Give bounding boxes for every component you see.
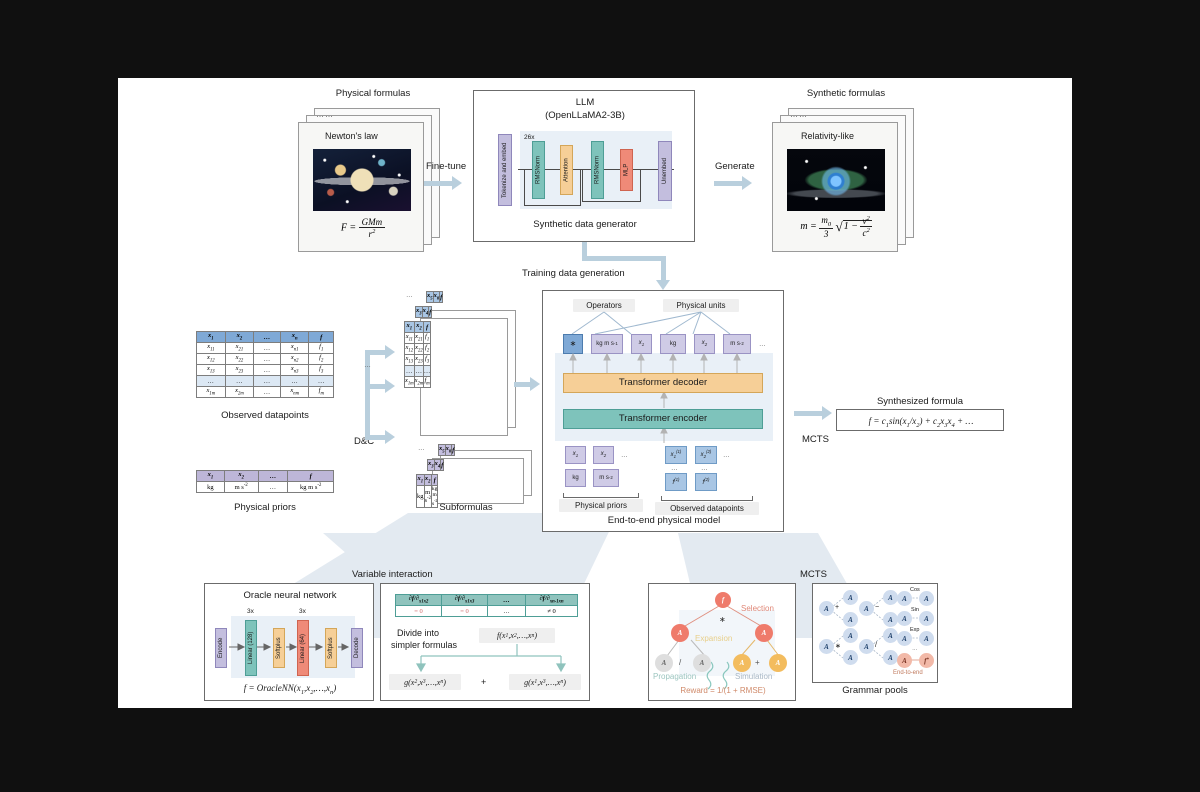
figure-canvas: Physical formulas Newton's law F = GMm r… xyxy=(118,78,1072,708)
table-row: x13x23f3 xyxy=(405,355,431,366)
input-token-f1: f(1) xyxy=(665,473,687,491)
formula-lhs: F = xyxy=(341,222,356,233)
grammar-op-plus: + xyxy=(835,604,839,611)
table-row: x1mx2mfm xyxy=(405,377,431,388)
grammar-node-b4: A xyxy=(859,639,874,654)
grammar-node-c5: A xyxy=(897,631,912,646)
mcts-leaf-3: A xyxy=(733,654,751,672)
formula-denominator: r2 xyxy=(359,228,386,239)
obs-h-2: … xyxy=(254,332,281,343)
grammar-node-b1: A xyxy=(859,601,874,616)
grammar-node-leaf: f* xyxy=(919,653,934,668)
grammar-node-c3: A xyxy=(897,611,912,626)
mcts-leaf-4: A xyxy=(769,654,787,672)
physical-priors-table: x1 x2 … f kg m s-2 … kg m s-2 xyxy=(196,470,334,493)
mcts-op-root: ∗ xyxy=(719,615,726,624)
dc-stack-header-2: x3x4f xyxy=(415,306,432,318)
input-token-x2: x2 xyxy=(593,446,614,464)
grammar-op-times: ∗ xyxy=(835,642,841,650)
pri-h-0: x1 xyxy=(197,471,225,482)
llm-block-tokenize: Tokenize and embed xyxy=(498,134,512,206)
grammar-node-b6: A xyxy=(883,650,898,665)
grammar-pools-panel: A + A A A ∗ A A A − A A A / A A A Cos A … xyxy=(812,583,938,683)
input-token-ms2: m s-2 xyxy=(593,469,619,487)
newtons-law-formula: F = GMm r2 xyxy=(315,217,411,239)
table-row: ……… xyxy=(405,366,431,377)
table-header-row: x1 x2 … f xyxy=(197,471,334,482)
table-row: …………… xyxy=(197,376,334,387)
obs-h-1: x2 xyxy=(225,332,254,343)
llm-caption: Synthetic data generator xyxy=(533,219,637,230)
sub-front-table: x1x2f kg m s-2 kg m s-2 xyxy=(416,474,438,508)
reward-formula: Reward = 1/(1 + RMSE) xyxy=(680,686,765,695)
obs-h-0: x1 xyxy=(197,332,226,343)
data-col-dots-2: … xyxy=(701,465,708,472)
llm-block-rmsnorm-1: RMSNorm xyxy=(532,141,545,199)
pri-h-2: … xyxy=(258,471,288,482)
table-row: x13x23…xn3f3 xyxy=(197,365,334,376)
oracle-block-linear128: Linear (128) xyxy=(245,620,257,676)
oracle-block-softplus-2: Softplus xyxy=(325,628,337,668)
grammar-pools-caption: Grammar pools xyxy=(842,685,907,696)
sub-stack-header-2: x3x4f xyxy=(427,459,444,471)
grammar-node-c4: A xyxy=(919,611,934,626)
oracle-block-linear64: Linear (64) xyxy=(297,620,309,676)
phase-propagation-label: Propagation xyxy=(653,672,696,681)
observed-datapoints-caption: Observed datapoints xyxy=(221,410,309,421)
grammar-op-minus: − xyxy=(875,604,879,611)
mcts-section-title: MCTS xyxy=(800,569,827,580)
table-row: x12x22…xn2f2 xyxy=(197,354,334,365)
mcts-node-left: A xyxy=(671,624,689,642)
table-header-row: x1x2f xyxy=(417,475,438,486)
formula-numerator: GMm xyxy=(359,217,386,228)
phase-expansion-label: Expansion xyxy=(695,634,732,643)
llm-repeat-label: 26x xyxy=(524,134,534,141)
oracle-block-softplus-1: Softplus xyxy=(273,628,285,668)
grammar-fn-sin: Sin xyxy=(911,607,919,613)
table-header-row: x1x2f xyxy=(405,322,431,333)
llm-subtitle: (OpenLLaMA2-3B) xyxy=(545,110,625,121)
sub-stack-header-3: x5x6f xyxy=(438,444,455,456)
table-row: x11x21…xn1f1 xyxy=(197,343,334,354)
obs-h-4: f xyxy=(309,332,334,343)
grammar-fn-cos: Cos xyxy=(910,587,920,593)
input-token-f2: f(2) xyxy=(695,473,717,491)
mcts-root-node: f xyxy=(715,592,731,608)
generate-label: Generate xyxy=(715,161,755,172)
grammar-node-a2: A xyxy=(843,590,858,605)
fine-tune-label: Fine-tune xyxy=(426,161,466,172)
sub-stack-dots: … xyxy=(418,445,425,452)
e2e-data-caption: Observed datapoints xyxy=(655,502,759,515)
grammar-node-b2: A xyxy=(883,590,898,605)
stack-card-front: Newton's law F = GMm r2 xyxy=(298,122,424,252)
syn-card-front: Relativity-like m = m0 3 √1 − v2 c2 xyxy=(772,122,898,252)
dc-front-table: x1x2f x11x21f1 x12x22f2 x13x23f3 ……… x1m… xyxy=(404,321,431,388)
variable-interaction-panel: ∂f/∂x1x2 ∂f/∂x1x3 … ∂f/∂xn-1xn = 0 = 0 …… xyxy=(380,583,590,701)
transformer-decoder: Transformer decoder xyxy=(563,373,763,393)
child-formula-right: g(x1,x3,…,xn) xyxy=(509,674,581,690)
mcts-leaf-1: A xyxy=(655,654,673,672)
oracle-block-encode: Encode xyxy=(215,628,227,668)
e2e-model-box: Operators Physical units ∗ kg m s-1 x1 k… xyxy=(542,290,784,532)
newtons-law-title: Newton's law xyxy=(325,131,378,141)
mcts-panel: f ∗ A A A / A A + A Selection Expansion … xyxy=(648,583,796,701)
table-row: kg m s-2 kg m s-2 xyxy=(417,486,438,508)
dc-stack-dots: … xyxy=(406,292,413,299)
black-hole-image xyxy=(787,149,885,211)
relativity-formula: m = m0 3 √1 − v2 c2 xyxy=(781,215,891,239)
table-row: x1mx2m…xnmfm xyxy=(197,387,334,398)
input-token-x2-2: x2(2) xyxy=(695,446,717,464)
solar-system-image xyxy=(313,149,411,211)
variable-interaction-title: Variable interaction xyxy=(352,569,433,580)
synthesized-formula-title: Synthesized formula xyxy=(877,396,963,407)
data-col-dots-1: … xyxy=(671,465,678,472)
observed-datapoints-table: x1 x2 … xn f x11x21…xn1f1 x12x22…xn2f2 x… xyxy=(196,331,334,398)
transformer-encoder: Transformer encoder xyxy=(563,409,763,429)
synthesized-formula-text: f = c1sin(x1/x2) + c2x3x4 + … xyxy=(869,416,974,429)
grammar-op-div: / xyxy=(875,642,877,649)
grammar-node-a5: A xyxy=(843,628,858,643)
grammar-node-d1: A xyxy=(897,653,912,668)
input-token-x1-1: x1(1) xyxy=(665,446,687,464)
grammar-node-a1: A xyxy=(819,601,834,616)
training-data-generation-label: Training data generation xyxy=(522,268,625,279)
llm-block-unembed: Unembed xyxy=(658,141,672,201)
physical-formulas-title: Physical formulas xyxy=(336,88,410,99)
grammar-node-b3: A xyxy=(883,612,898,627)
grammar-node-c6: A xyxy=(919,631,934,646)
oracle-formula: f = OracleNN(x1,x2,…,xn) xyxy=(244,683,337,696)
phase-selection-label: Selection xyxy=(741,604,774,613)
stack-dots: …… xyxy=(316,110,334,119)
grammar-end-to-end-label: End-to-end xyxy=(893,670,923,676)
table-row: x11x21f1 xyxy=(405,333,431,344)
grammar-node-c1: A xyxy=(897,591,912,606)
table-header-row: x1 x2 … xn f xyxy=(197,332,334,343)
llm-block-attention: Attention xyxy=(560,145,573,195)
mcts-arrow-label: MCTS xyxy=(802,434,829,445)
grammar-node-b5: A xyxy=(883,628,898,643)
llm-title: LLM xyxy=(576,97,594,108)
priors-tokens-dots: … xyxy=(621,452,628,459)
table-row: x12x22f2 xyxy=(405,344,431,355)
table-row: kg m s-2 … kg m s-2 xyxy=(197,482,334,493)
llm-block-mlp: MLP xyxy=(620,149,633,191)
input-token-kg: kg xyxy=(565,469,586,487)
mcts-op-left: / xyxy=(679,658,681,667)
relativity-title: Relativity-like xyxy=(801,131,854,141)
e2e-priors-caption: Physical priors xyxy=(559,499,643,512)
input-token-x1: x1 xyxy=(565,446,586,464)
obs-h-3: xn xyxy=(280,332,309,343)
grammar-fn-dots: … xyxy=(912,646,918,652)
syn-stack-dots: …… xyxy=(790,110,808,119)
synthesized-formula-box: f = c1sin(x1/x2) + c2x3x4 + … xyxy=(836,409,1004,431)
synthetic-formulas-title: Synthetic formulas xyxy=(807,88,885,99)
physical-priors-caption: Physical priors xyxy=(234,502,296,513)
dc-dots: … xyxy=(364,362,371,369)
e2e-caption: End-to-end physical model xyxy=(608,515,720,526)
dc-stack-header-3: x5x6f xyxy=(426,291,443,303)
subformulas-caption: Subformulas xyxy=(439,502,492,513)
mcts-op-right: + xyxy=(755,658,760,667)
data-tokens-dots: … xyxy=(723,452,730,459)
llm-block-rmsnorm-2: RMSNorm xyxy=(591,141,604,199)
pri-h-3: f xyxy=(288,471,334,482)
phase-simulation-label: Simulation xyxy=(735,672,772,681)
oracle-block-decode: Decode xyxy=(351,628,363,668)
mcts-node-right: A xyxy=(755,624,773,642)
grammar-node-c2: A xyxy=(919,591,934,606)
grammar-node-a4: A xyxy=(819,639,834,654)
oracle-panel: Oracle neural network 3x 3x Encode Linea… xyxy=(204,583,374,701)
mcts-leaf-2: A xyxy=(693,654,711,672)
pri-h-1: x2 xyxy=(224,471,258,482)
grammar-node-a3: A xyxy=(843,612,858,627)
grammar-fn-exp: Exp xyxy=(910,627,919,633)
child-formula-left: g(x2,x3,…,xn) xyxy=(389,674,461,690)
plus-sign: + xyxy=(481,677,486,687)
grammar-node-a6: A xyxy=(843,650,858,665)
llm-box: LLM (OpenLLaMA2-3B) 26x Tokenize and emb… xyxy=(473,90,695,242)
